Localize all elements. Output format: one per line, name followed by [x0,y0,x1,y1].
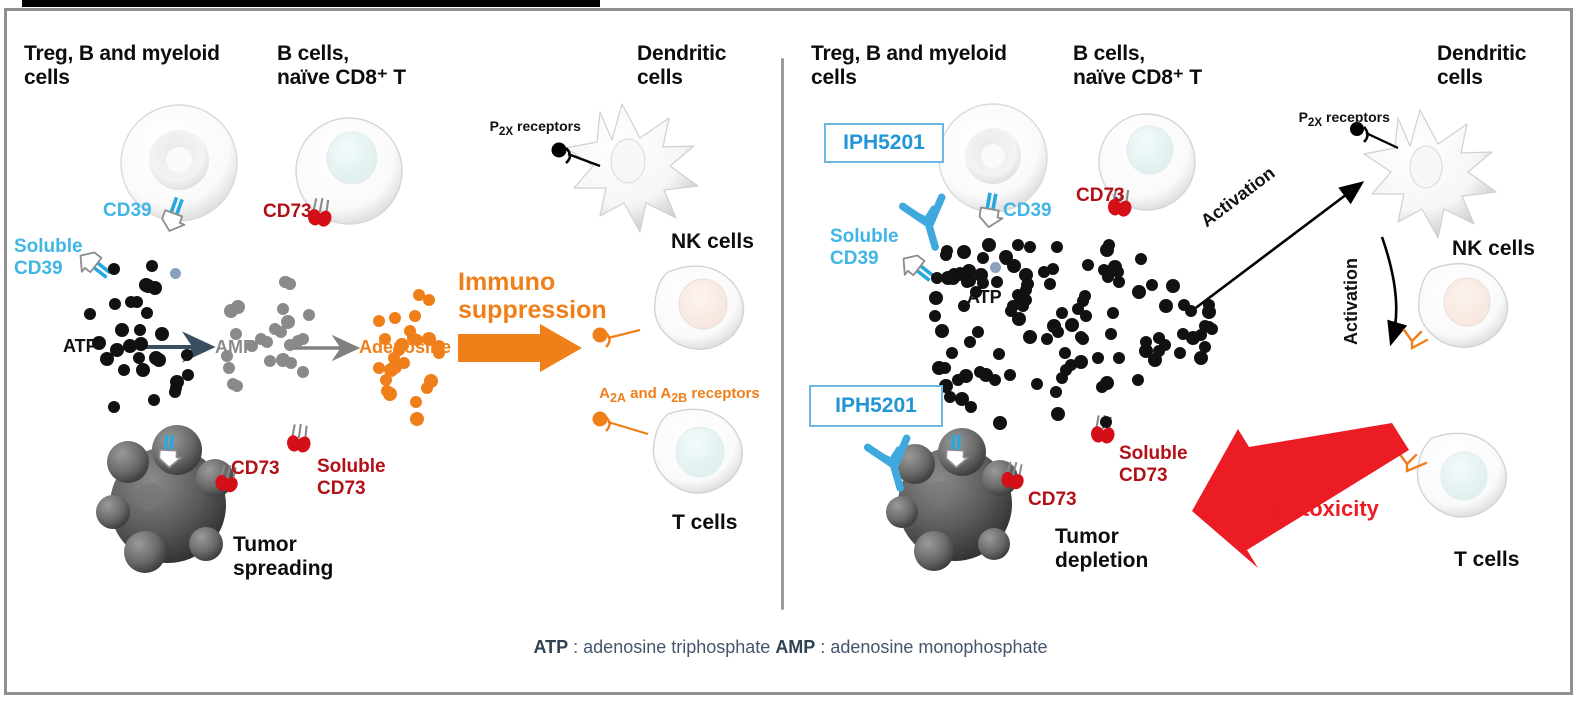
molecule-dot [383,387,397,401]
molecule-dot [931,272,943,284]
molecule-dot [155,327,169,341]
molecule-dot [1113,352,1125,364]
molecule-dot [1135,253,1147,265]
cytotoxicity-label: Cytotoxicity [1253,496,1379,521]
molecule-dot [182,369,194,381]
header-dendritic-left: Dendritic cells [637,42,726,90]
molecule-dot [1000,253,1012,265]
header-nk-right: NK cells [1452,237,1535,261]
molecule-dot [929,291,943,305]
molecule-dot [1075,331,1087,343]
molecule-dot [1004,369,1016,381]
molecule-dot [1056,307,1068,319]
adenosine-label-left: Adenosine [359,337,451,358]
molecule-dot [148,281,162,295]
soluble-cd73-label-right: Soluble CD73 [1119,443,1188,487]
cd73-label-bcell-right: CD73 [1076,185,1125,207]
header-tcells-right: T cells [1454,548,1519,572]
atp-label-left: ATP [63,336,98,357]
atp-abbr: ATP [533,637,568,657]
molecule-dot [929,310,941,322]
header-treg-left: Treg, B and myeloid cells [24,42,220,90]
molecule-dot [276,353,290,367]
cd73-label-tumor-right: CD73 [1028,489,1077,511]
cd73-label-bcell-left: CD73 [263,201,312,223]
molecule-dot [939,362,951,374]
molecule-dot [935,324,949,338]
molecule-dot [1203,299,1215,311]
molecule-dot [297,333,309,345]
footer-legend: ATP : adenosine triphosphate AMP : adeno… [0,637,1581,658]
molecule-dot [1074,355,1088,369]
iph5201-box-top[interactable]: IPH5201 [824,123,944,163]
header-tcells-left: T cells [672,511,737,535]
molecule-dot [421,382,433,394]
molecule-dot [148,394,160,406]
adenosine-receptors-label-left: A2A and A2B receptors [583,368,760,423]
molecule-dot [1100,243,1114,257]
molecule-dot [1082,259,1094,271]
molecule-dot [1132,374,1144,386]
molecule-dot [108,401,120,413]
molecule-dot [297,366,309,378]
molecule-dot [181,349,193,361]
molecule-dot [136,363,150,377]
molecule-dot [133,352,145,364]
molecule-dot [977,252,989,264]
p2x-receptors-label-left: P2X receptors [474,102,581,154]
molecule-dot [1007,300,1019,312]
molecule-dot [991,276,1003,288]
molecule-dot [134,324,146,336]
molecule-dot [1178,299,1190,311]
molecule-dot [1044,278,1056,290]
molecule-dot [284,278,296,290]
immunosuppression-label: Immuno suppression [458,268,607,324]
molecule-dot [131,296,143,308]
molecule-dot [1107,307,1119,319]
p2x-receptors-label-right: P2X receptors [1283,93,1390,145]
molecule-dot [1060,364,1072,376]
tumor-depletion-label: Tumor depletion [1055,525,1148,573]
molecule-dot [100,352,114,366]
molecule-dot [1080,310,1092,322]
molecule-dot [1012,239,1024,251]
molecule-dot [231,380,243,392]
molecule-dot [957,245,971,259]
molecule-dot [1079,290,1091,302]
molecule-dot [109,298,121,310]
iph5201-box-bottom[interactable]: IPH5201 [809,385,943,427]
header-nk-left: NK cells [671,230,754,254]
molecule-dot [1194,351,1208,365]
molecule-dot [946,347,958,359]
figure-root: Treg, B and myeloid cells B cells, naïve… [0,0,1581,703]
amp-def: : adenosine monophosphate [815,637,1047,657]
molecule-dot [940,249,952,261]
molecule-dot [1050,386,1062,398]
soluble-cd73-label-left: Soluble CD73 [317,456,386,500]
molecule-dot [275,326,287,338]
molecule-dot [1174,347,1186,359]
molecule-dot [373,362,385,374]
molecule-dot [1022,278,1034,290]
molecule-dot [1038,266,1050,278]
molecule-dot [972,326,984,338]
amp-abbr: AMP [775,637,815,657]
molecule-dot [380,374,392,386]
activation-label-nk: Activation [1341,258,1362,345]
molecule-dot [1096,381,1108,393]
molecule-dot [1012,312,1026,326]
header-treg-right: Treg, B and myeloid cells [811,42,1007,90]
molecule-dot [410,396,422,408]
molecule-dot [123,339,137,353]
molecule-dot [1199,320,1211,332]
molecule-dot [1020,294,1032,306]
molecule-dot [1024,241,1036,253]
molecule-dot [264,355,276,367]
amp-label-left: AMP [215,337,255,358]
molecule-dot [223,362,235,374]
molecule-dot [118,364,130,376]
molecule-dot [1105,328,1117,340]
cd73-label-tumor-left: CD73 [231,458,280,480]
molecule-dot [964,336,976,348]
cd39-label-right: CD39 [1003,200,1052,222]
molecule-dot [982,238,996,252]
molecule-dot [373,315,385,327]
molecule-dot [989,374,1001,386]
molecule-dot [170,268,181,279]
molecule-dot [1146,279,1158,291]
molecule-dot [277,303,289,315]
molecule-dot [141,307,153,319]
molecule-dot [959,369,973,383]
cd39-label-left: CD39 [103,200,152,222]
molecule-dot [990,262,1001,273]
molecule-dot [993,416,1007,430]
molecule-dot [146,260,158,272]
molecule-dot [962,264,976,278]
molecule-dot [1059,347,1071,359]
header-dendritic-right: Dendritic cells [1437,42,1526,90]
molecule-dot [1132,285,1146,299]
molecule-dot [1031,378,1043,390]
molecule-dot [1159,299,1173,313]
molecule-dot [108,263,120,275]
molecule-dot [389,312,401,324]
molecule-dot [1052,326,1064,338]
molecule-dot [410,412,424,426]
atp-def: : adenosine triphosphate [568,637,775,657]
molecule-dot [423,294,435,306]
atp-label-right: ATP [967,287,1002,308]
molecule-dot [409,310,421,322]
molecule-dot [1102,271,1114,283]
molecule-dot [1041,333,1053,345]
soluble-cd39-label-left: Soluble CD39 [14,236,83,280]
molecule-dot [1092,352,1104,364]
molecule-dot [1023,330,1037,344]
molecule-dot [1051,241,1063,253]
molecule-dot [1140,336,1152,348]
header-bcells-right: B cells, naïve CD8⁺ T [1073,42,1202,90]
molecule-dot [303,309,315,321]
molecule-dot [1153,345,1165,357]
molecule-dot [152,353,166,367]
header-bcells-left: B cells, naïve CD8⁺ T [277,42,406,90]
molecule-dot [1166,279,1180,293]
molecule-dot [1199,341,1211,353]
molecule-dot [993,348,1005,360]
molecule-dot [84,308,96,320]
molecule-dot [1065,318,1079,332]
molecule-dot [115,323,129,337]
tumor-spreading-label: Tumor spreading [233,533,333,581]
molecule-dot [1186,331,1200,345]
molecule-dot [1100,416,1112,428]
molecule-dot [1051,407,1065,421]
soluble-cd39-label-right: Soluble CD39 [830,226,899,270]
molecule-dot [231,300,245,314]
